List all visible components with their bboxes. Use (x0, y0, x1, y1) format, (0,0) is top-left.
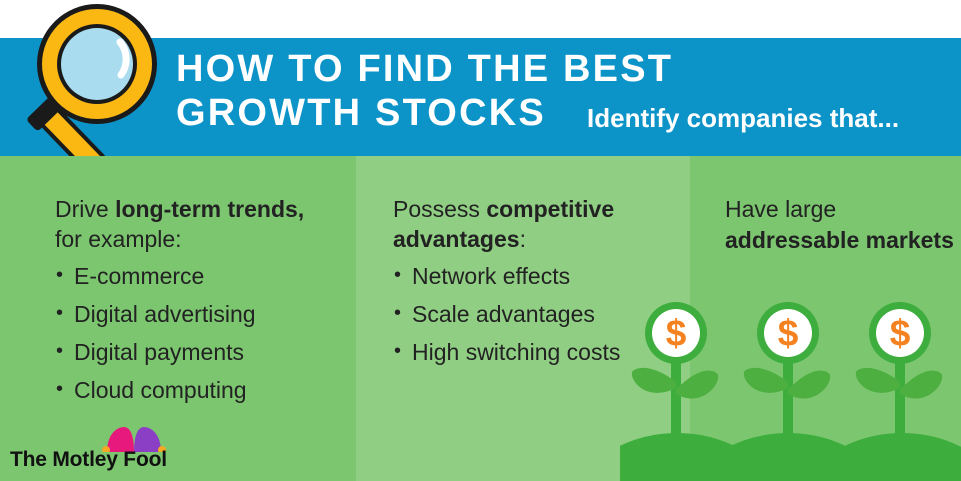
heading-text-tail: : (520, 226, 526, 252)
infographic-canvas: HOW TO FIND THE BEST GROWTH STOCKS Ident… (0, 0, 961, 481)
list-item: Scale advantages (393, 301, 673, 328)
column-trends: Drive long-term trends, for example: E-c… (55, 194, 337, 415)
list-item: E-commerce (55, 263, 337, 290)
list-item: Cloud computing (55, 377, 337, 404)
list-item: Digital advertising (55, 301, 337, 328)
heading-text: Drive (55, 196, 115, 222)
coin-dollar-symbol: $ (890, 313, 911, 354)
heading-text: Possess (393, 196, 486, 222)
coin-dollar-symbol: $ (778, 313, 799, 354)
heading-text-tail: for example: (55, 226, 182, 252)
column-advantages: Possess competitive advantages: Network … (393, 194, 673, 377)
column-trends-list: E-commerce Digital advertising Digital p… (55, 263, 337, 404)
column-advantages-heading: Possess competitive advantages: (393, 194, 673, 254)
header-subtitle: Identify companies that... (587, 103, 899, 133)
column-advantages-list: Network effects Scale advantages High sw… (393, 263, 673, 366)
column-markets: Have large addressable markets (725, 194, 955, 265)
heading-text: Have large (725, 196, 836, 222)
heading-emphasis: addressable markets (725, 227, 954, 253)
heading-emphasis: long-term trends, (115, 196, 304, 222)
column-trends-heading: Drive long-term trends, for example: (55, 194, 337, 254)
brand-logo[interactable]: The Motley Fool (10, 428, 170, 474)
list-item: Digital payments (55, 339, 337, 366)
column-markets-heading: Have large addressable markets (725, 194, 955, 256)
brand-logo-text: The Motley Fool (10, 448, 167, 472)
list-item: High switching costs (393, 339, 673, 366)
list-item: Network effects (393, 263, 673, 290)
